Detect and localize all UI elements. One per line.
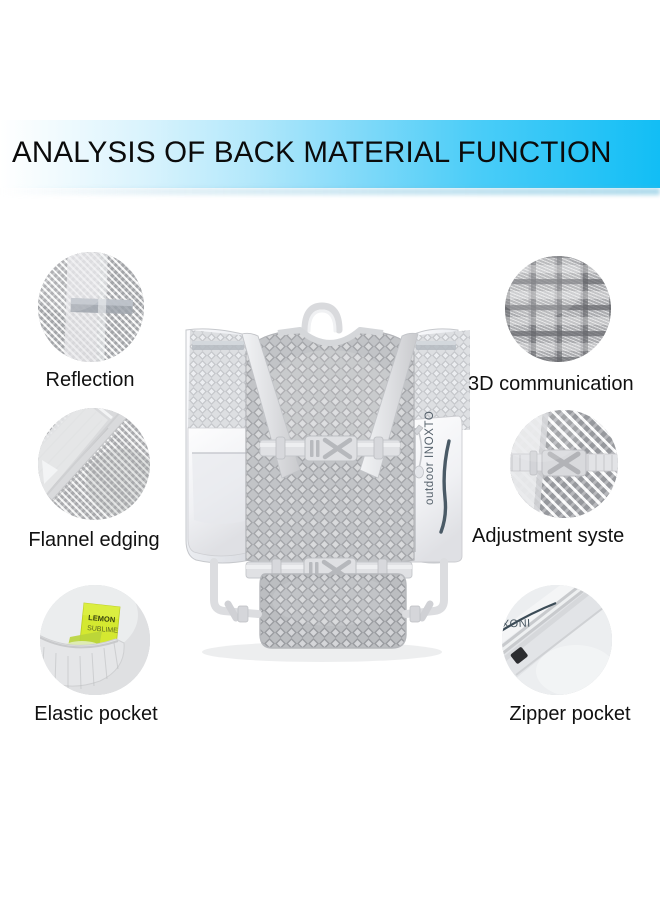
hanging-loop-highlight: [309, 311, 335, 331]
3d-communication-icon: [505, 256, 611, 362]
feature-label-reflection: Reflection: [0, 368, 180, 392]
zipper-pocket-icon: INOXTO outdoor: [502, 585, 612, 695]
infographic-page: ANALYSIS OF BACK MATERIAL FUNCTION: [0, 0, 660, 900]
brand-text: outdoor INOXTO: [424, 411, 436, 505]
upper-adjustment-strap: [260, 436, 400, 461]
feature-label-3d-communication: 3D communication: [468, 372, 660, 396]
x-buckle-upper: [305, 436, 357, 461]
elastic-pocket-icon: LEMON SUBLIME: [40, 585, 150, 695]
feature-label-flannel-edging: Flannel edging: [0, 528, 188, 552]
reflection-icon: [38, 252, 144, 362]
flannel-edging-icon: [38, 408, 150, 520]
adjustment-system-icon: [510, 410, 618, 518]
bottom-mesh-pad: [260, 574, 406, 648]
feature-label-zipper-pocket: Zipper pocket: [470, 702, 660, 726]
feature-label-elastic-pocket: Elastic pocket: [0, 702, 192, 726]
feature-label-adjustment-system: Adjustment syste: [472, 524, 660, 548]
